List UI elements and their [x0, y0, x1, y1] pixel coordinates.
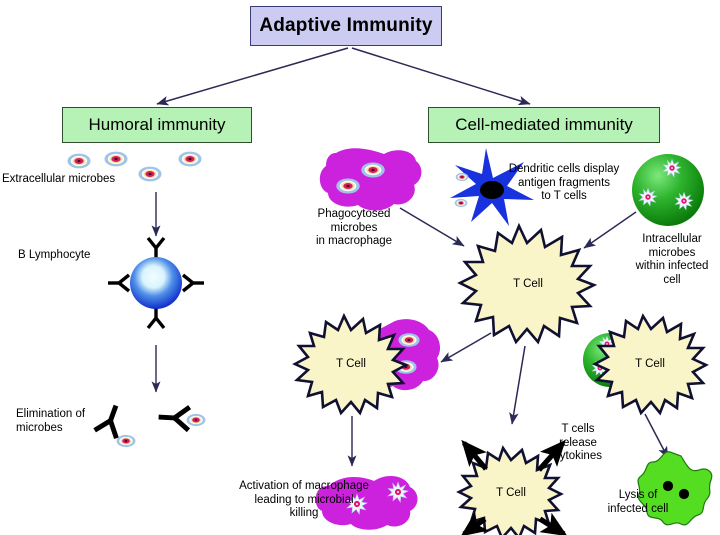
label-lysis-of-infected-cell: Lysis of infected cell: [592, 489, 684, 516]
microbe-in-macrophage-1: [361, 162, 384, 177]
extracellular-microbe-1: [68, 154, 91, 169]
extracellular-microbe-4: [179, 152, 202, 167]
t-cell-infected-complex: [595, 316, 706, 413]
label-intracellular-microbes: Intracellular microbes within infected c…: [626, 233, 718, 287]
macrophage-with-microbes: [320, 148, 422, 210]
t-cell-primary-body: [460, 226, 594, 342]
label-dendritic-cells: Dendritic cells display antigen fragment…: [500, 163, 628, 204]
macrophage-body: [320, 148, 422, 210]
label-t-cells-release-cytokines: T cells release cytokines: [540, 423, 616, 464]
t-cell-primary: [460, 226, 594, 342]
extracellular-microbe-3: [139, 167, 162, 182]
connector-tcell-to-cytokine-tcell: [512, 346, 525, 424]
antigen-fragment-2: [455, 199, 468, 207]
t-cell-infected-body: [595, 316, 706, 413]
t-cell-macrophage-complex: [295, 316, 440, 413]
b-cell-receptor-left: [108, 275, 129, 291]
connector-title-to-humoral: [157, 48, 348, 104]
infected-cell-top: [632, 154, 704, 226]
label-elimination-of-microbes: Elimination of microbes: [16, 408, 116, 435]
label-b-lymphocyte: B Lymphocyte: [18, 249, 128, 263]
connector-title-to-cellmediated: [352, 48, 530, 104]
connector-macrophage-to-tcell: [400, 208, 464, 246]
page-title: Adaptive Immunity: [250, 6, 442, 46]
branch-cell-mediated-immunity: Cell-mediated immunity: [428, 107, 660, 143]
diagram-canvas: Adaptive Immunity Humoral immunity Cell-…: [0, 0, 720, 535]
cytokine-arrow-downright: [540, 519, 564, 534]
b-cell-body: [130, 257, 182, 309]
b-cell-receptor-top: [148, 238, 164, 259]
label-extracellular-microbes: Extracellular microbes: [2, 173, 132, 187]
microbe-in-target-macrophage-1: [398, 333, 419, 347]
extracellular-microbe-2: [105, 152, 128, 167]
free-antibody-2: [158, 406, 205, 431]
microbe-in-macrophage-2: [336, 178, 359, 193]
branch-humoral-immunity: Humoral immunity: [62, 107, 252, 143]
label-activation-of-macrophage: Activation of macrophage leading to micr…: [220, 480, 388, 521]
b-cell-receptor-bottom: [148, 307, 164, 328]
label-phagocytosed-microbes: Phagocytosed microbes in macrophage: [300, 208, 408, 249]
connector-tcell-to-lysis: [645, 414, 668, 458]
antigen-fragment-1: [456, 173, 469, 181]
b-cell-receptor-right: [183, 275, 204, 291]
connector-tcell-to-macrophage-attack: [441, 333, 491, 362]
